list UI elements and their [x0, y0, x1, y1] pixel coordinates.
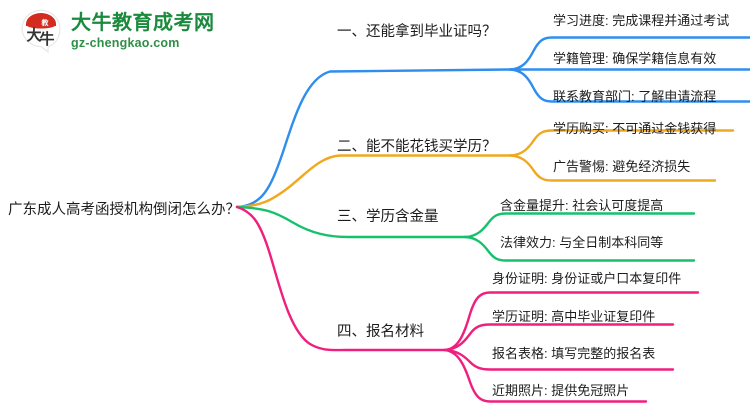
logo-subtitle: gz-chengkao.com — [71, 37, 215, 50]
mindmap-leaf-4-1[interactable]: 身份证明: 身份证或户口本复印件 — [492, 268, 681, 287]
mindmap-leaf-4-2[interactable]: 学历证明: 高中毕业证复印件 — [492, 306, 655, 325]
mindmap-branch-2[interactable]: 二、能不能花钱买学历？ — [337, 135, 497, 156]
mindmap-leaf-1-3[interactable]: 联系教育部门: 了解申请流程 — [553, 86, 716, 105]
mindmap-branch-3[interactable]: 三、学历含金量 — [337, 205, 439, 226]
mindmap-leaf-4-4[interactable]: 近期照片: 提供免冠照片 — [492, 380, 629, 399]
svg-text:教: 教 — [41, 18, 50, 27]
logo-title: 大牛教育成考网 — [71, 13, 215, 33]
mindmap-branch-4[interactable]: 四、报名材料 — [337, 320, 424, 341]
mindmap-leaf-2-2[interactable]: 广告警惕: 避免经济损失 — [553, 156, 690, 175]
svg-text:牛: 牛 — [39, 30, 54, 48]
mindmap-leaf-3-1[interactable]: 含金量提升: 社会认可度提高 — [500, 195, 663, 214]
bull-head-logo-icon: 大 牛 教 — [18, 8, 64, 54]
mindmap-leaf-2-1[interactable]: 学历购买: 不可通过金钱获得 — [553, 118, 716, 137]
mindmap-leaf-4-3[interactable]: 报名表格: 填写完整的报名表 — [492, 343, 655, 362]
mindmap-root-node[interactable]: 广东成人高考函授机构倒闭怎么办？ — [8, 198, 240, 219]
mindmap-leaf-1-1[interactable]: 学习进度: 完成课程并通过考试 — [553, 10, 729, 29]
mindmap-leaf-1-2[interactable]: 学籍管理: 确保学籍信息有效 — [553, 48, 716, 67]
mindmap-branch-1[interactable]: 一、还能拿到毕业证吗？ — [337, 20, 497, 41]
site-logo[interactable]: 大 牛 教 大牛教育成考网 gz-chengkao.com — [18, 8, 215, 54]
mindmap-leaf-3-2[interactable]: 法律效力: 与全日制本科同等 — [500, 232, 663, 251]
